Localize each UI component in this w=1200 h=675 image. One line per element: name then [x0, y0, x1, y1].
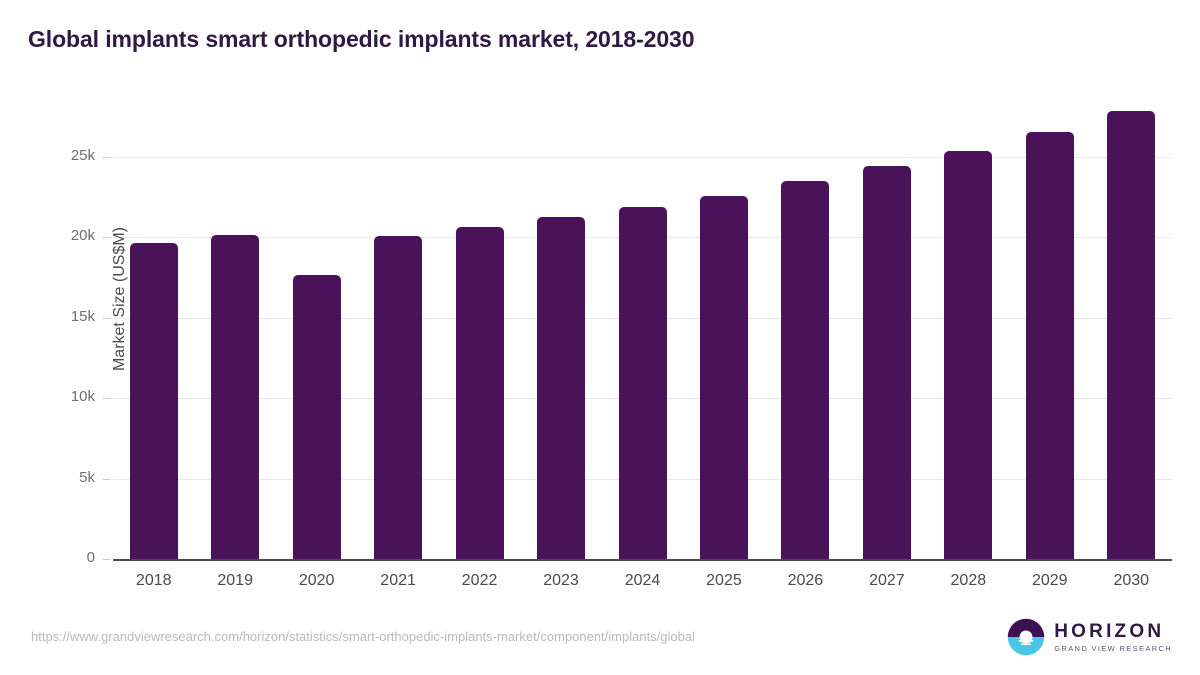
horizon-logo-icon — [1007, 618, 1045, 656]
logo-name: HORIZON — [1054, 622, 1172, 641]
bar[interactable] — [211, 235, 259, 559]
x-axis-tick-label: 2021 — [357, 572, 438, 590]
y-axis-tick-label: 5k — [0, 469, 95, 486]
y-axis-tick-label: 20k — [0, 227, 95, 244]
y-axis-tick-label: 0 — [0, 549, 95, 566]
horizon-logo-text: HORIZON GRAND VIEW RESEARCH — [1054, 622, 1172, 653]
x-axis-tick-label: 2027 — [846, 572, 927, 590]
chart-card: Global implants smart orthopedic implant… — [0, 0, 1200, 675]
bar[interactable] — [863, 166, 911, 559]
x-axis-tick-label: 2030 — [1091, 572, 1172, 590]
y-axis-tick-mark — [103, 157, 111, 158]
bar[interactable] — [781, 181, 829, 559]
x-axis-tick-label: 2029 — [1009, 572, 1090, 590]
x-axis-tick-label: 2022 — [439, 572, 520, 590]
bar[interactable] — [944, 151, 992, 559]
x-axis-tick-label: 2026 — [765, 572, 846, 590]
horizon-logo[interactable]: HORIZON GRAND VIEW RESEARCH — [1007, 618, 1172, 656]
y-axis-tick-mark — [103, 318, 111, 319]
logo-tagline: GRAND VIEW RESEARCH — [1054, 645, 1172, 653]
bar[interactable] — [293, 275, 341, 559]
y-axis-tick-label: 25k — [0, 147, 95, 164]
y-axis-tick-mark — [103, 479, 111, 480]
bars — [113, 100, 1172, 559]
x-axis-tick-label: 2025 — [683, 572, 764, 590]
x-axis-tick-label: 2020 — [276, 572, 357, 590]
bar[interactable] — [374, 236, 422, 559]
x-axis-tick-label: 2024 — [602, 572, 683, 590]
bar[interactable] — [537, 217, 585, 559]
bar[interactable] — [456, 227, 504, 559]
bar[interactable] — [1107, 111, 1155, 559]
bar[interactable] — [1026, 132, 1074, 559]
x-axis-tick-label: 2028 — [928, 572, 1009, 590]
bar[interactable] — [130, 243, 178, 559]
y-axis-tick-mark — [103, 559, 111, 560]
y-axis-tick-label: 10k — [0, 388, 95, 405]
y-axis-tick-mark — [103, 398, 111, 399]
y-axis-tick-mark — [103, 237, 111, 238]
source-url[interactable]: https://www.grandviewresearch.com/horizo… — [31, 629, 695, 644]
bar[interactable] — [700, 196, 748, 559]
x-axis-line — [113, 559, 1172, 561]
x-axis-tick-label: 2023 — [520, 572, 601, 590]
x-axis-tick-label: 2019 — [194, 572, 275, 590]
x-axis-tick-label: 2018 — [113, 572, 194, 590]
page-title: Global implants smart orthopedic implant… — [28, 26, 694, 53]
y-axis-tick-label: 15k — [0, 308, 95, 325]
bar[interactable] — [619, 207, 667, 559]
